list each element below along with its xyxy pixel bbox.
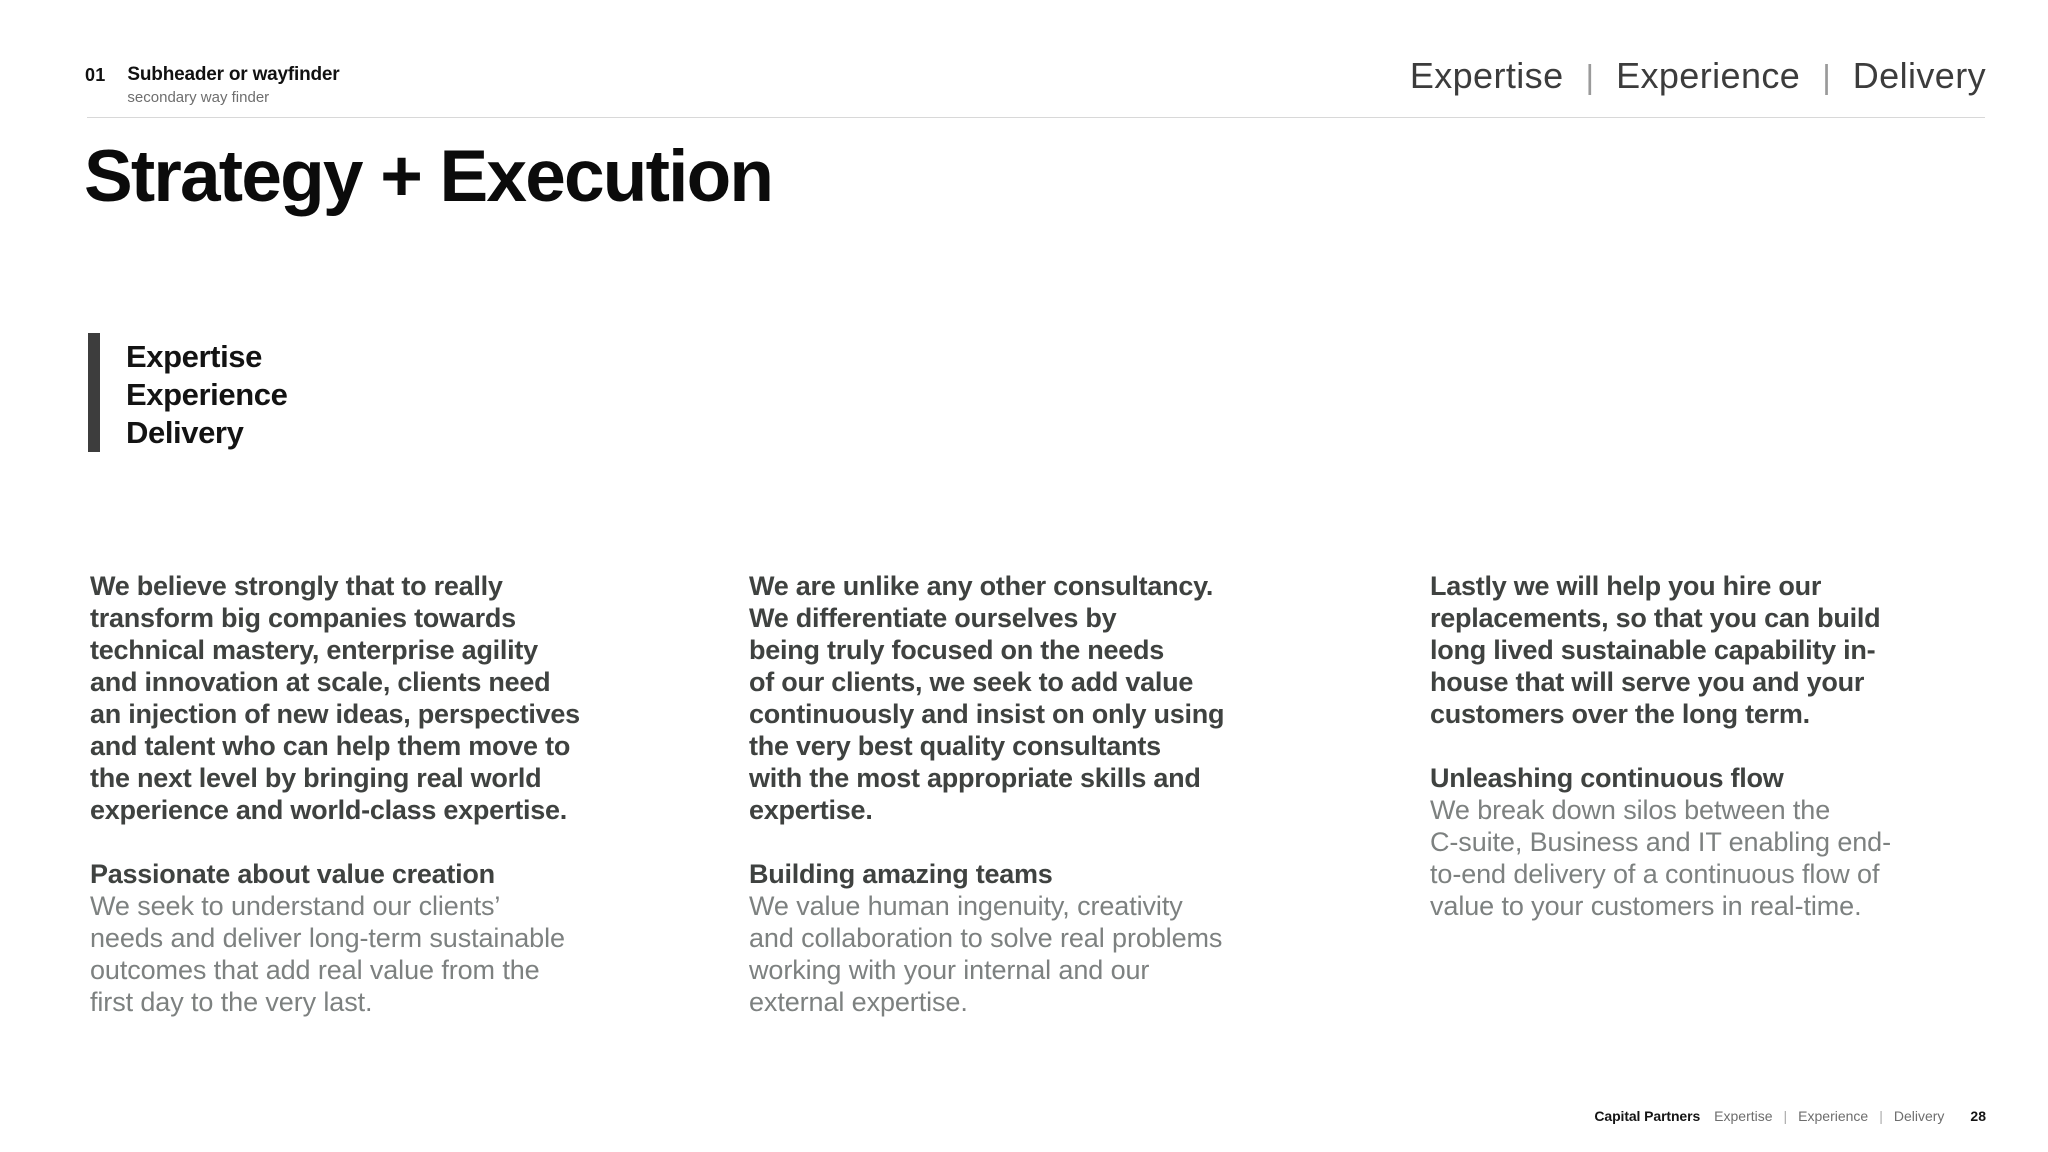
text-line: and collaboration to solve real problems xyxy=(749,922,1322,954)
text-line: technical mastery, enterprise agility xyxy=(90,634,632,666)
text-line: house that will serve you and your xyxy=(1430,666,2008,698)
slide-root: 01 Subheader or wayfinder secondary way … xyxy=(0,0,2048,1152)
header-divider xyxy=(87,117,1985,118)
text-line: the next level by bringing real world xyxy=(90,762,632,794)
footer-nav-separator: | xyxy=(1868,1108,1894,1124)
text-line: of our clients, we seek to add value xyxy=(749,666,1322,698)
header-nav-separator: | xyxy=(1564,55,1617,99)
slide-header: 01 Subheader or wayfinder secondary way … xyxy=(0,0,2048,118)
header-nav-item-experience[interactable]: Experience xyxy=(1616,54,1800,98)
column-1-lead-paragraph: We believe strongly that to really trans… xyxy=(90,570,632,826)
page-title: Strategy + Execution xyxy=(84,131,772,223)
content-column-1: We believe strongly that to really trans… xyxy=(0,570,672,1018)
footer-nav-item-expertise[interactable]: Expertise xyxy=(1714,1108,1772,1124)
column-3-subsection-body: We break down silos between the C-suite,… xyxy=(1430,794,2008,922)
footer-nav: Expertise | Experience | Delivery xyxy=(1714,1108,1944,1124)
text-line: Lastly we will help you hire our xyxy=(1430,570,2008,602)
accent-line-delivery: Delivery xyxy=(126,414,287,452)
text-line: being truly focused on the needs xyxy=(749,634,1322,666)
column-3-lead-paragraph: Lastly we will help you hire our replace… xyxy=(1430,570,2008,730)
text-line: first day to the very last. xyxy=(90,986,632,1018)
text-line: continuously and insist on only using xyxy=(749,698,1322,730)
content-column-3: Lastly we will help you hire our replace… xyxy=(1362,570,2048,1018)
text-line: long lived sustainable capability in- xyxy=(1430,634,2008,666)
text-line: experience and world-class expertise. xyxy=(90,794,632,826)
footer-nav-item-experience[interactable]: Experience xyxy=(1798,1108,1868,1124)
column-2-subsection-body: We value human ingenuity, creativity and… xyxy=(749,890,1322,1018)
accent-vertical-bar xyxy=(88,333,100,452)
footer-page-number: 28 xyxy=(1970,1108,1986,1124)
header-secondary-wayfinder: secondary way finder xyxy=(127,88,339,108)
header-nav[interactable]: Expertise | Experience | Delivery xyxy=(1410,54,1986,99)
footer-nav-item-delivery[interactable]: Delivery xyxy=(1894,1108,1945,1124)
text-line: and talent who can help them move to xyxy=(90,730,632,762)
slide-footer: Capital Partners Expertise | Experience … xyxy=(1594,1108,1986,1124)
text-line: We seek to understand our clients’ xyxy=(90,890,632,922)
header-wayfinder-text: Subheader or wayfinder secondary way fin… xyxy=(127,64,339,108)
footer-brand: Capital Partners xyxy=(1594,1108,1700,1124)
content-columns: We believe strongly that to really trans… xyxy=(0,570,2048,1018)
text-line: needs and deliver long-term sustainable xyxy=(90,922,632,954)
text-line: We differentiate ourselves by xyxy=(749,602,1322,634)
header-nav-separator: | xyxy=(1800,55,1853,99)
accent-line-expertise: Expertise xyxy=(126,338,287,376)
header-subheader-title: Subheader or wayfinder xyxy=(127,64,339,86)
text-line: We value human ingenuity, creativity xyxy=(749,890,1322,922)
header-wayfinder: 01 Subheader or wayfinder secondary way … xyxy=(85,64,339,108)
accent-quote-block: Expertise Experience Delivery xyxy=(88,333,287,452)
header-nav-item-delivery[interactable]: Delivery xyxy=(1853,54,1986,98)
column-3-subsection: Unleashing continuous flow We break down… xyxy=(1430,762,2008,922)
text-line: We break down silos between the xyxy=(1430,794,2008,826)
accent-line-experience: Experience xyxy=(126,376,287,414)
header-section-number: 01 xyxy=(85,64,127,86)
text-line: transform big companies towards xyxy=(90,602,632,634)
text-line: and innovation at scale, clients need xyxy=(90,666,632,698)
text-line: We believe strongly that to really xyxy=(90,570,632,602)
text-line: value to your customers in real-time. xyxy=(1430,890,2008,922)
column-1-subsection-body: We seek to understand our clients’ needs… xyxy=(90,890,632,1018)
column-1-subsection: Passionate about value creation We seek … xyxy=(90,858,632,1018)
text-line: customers over the long term. xyxy=(1430,698,2008,730)
text-line: an injection of new ideas, perspectives xyxy=(90,698,632,730)
header-nav-item-expertise[interactable]: Expertise xyxy=(1410,54,1564,98)
text-line: expertise. xyxy=(749,794,1322,826)
column-2-subsection-title: Building amazing teams xyxy=(749,858,1322,890)
text-line: outcomes that add real value from the xyxy=(90,954,632,986)
text-line: working with your internal and our xyxy=(749,954,1322,986)
content-column-2: We are unlike any other consultancy. We … xyxy=(672,570,1362,1018)
column-1-subsection-title: Passionate about value creation xyxy=(90,858,632,890)
text-line: with the most appropriate skills and xyxy=(749,762,1322,794)
column-2-lead-paragraph: We are unlike any other consultancy. We … xyxy=(749,570,1322,826)
text-line: the very best quality consultants xyxy=(749,730,1322,762)
accent-lines: Expertise Experience Delivery xyxy=(100,333,287,452)
text-line: C-suite, Business and IT enabling end- xyxy=(1430,826,2008,858)
footer-nav-separator: | xyxy=(1773,1108,1799,1124)
column-2-subsection: Building amazing teams We value human in… xyxy=(749,858,1322,1018)
text-line: We are unlike any other consultancy. xyxy=(749,570,1322,602)
text-line: external expertise. xyxy=(749,986,1322,1018)
text-line: to-end delivery of a continuous flow of xyxy=(1430,858,2008,890)
text-line: replacements, so that you can build xyxy=(1430,602,2008,634)
column-3-subsection-title: Unleashing continuous flow xyxy=(1430,762,2008,794)
